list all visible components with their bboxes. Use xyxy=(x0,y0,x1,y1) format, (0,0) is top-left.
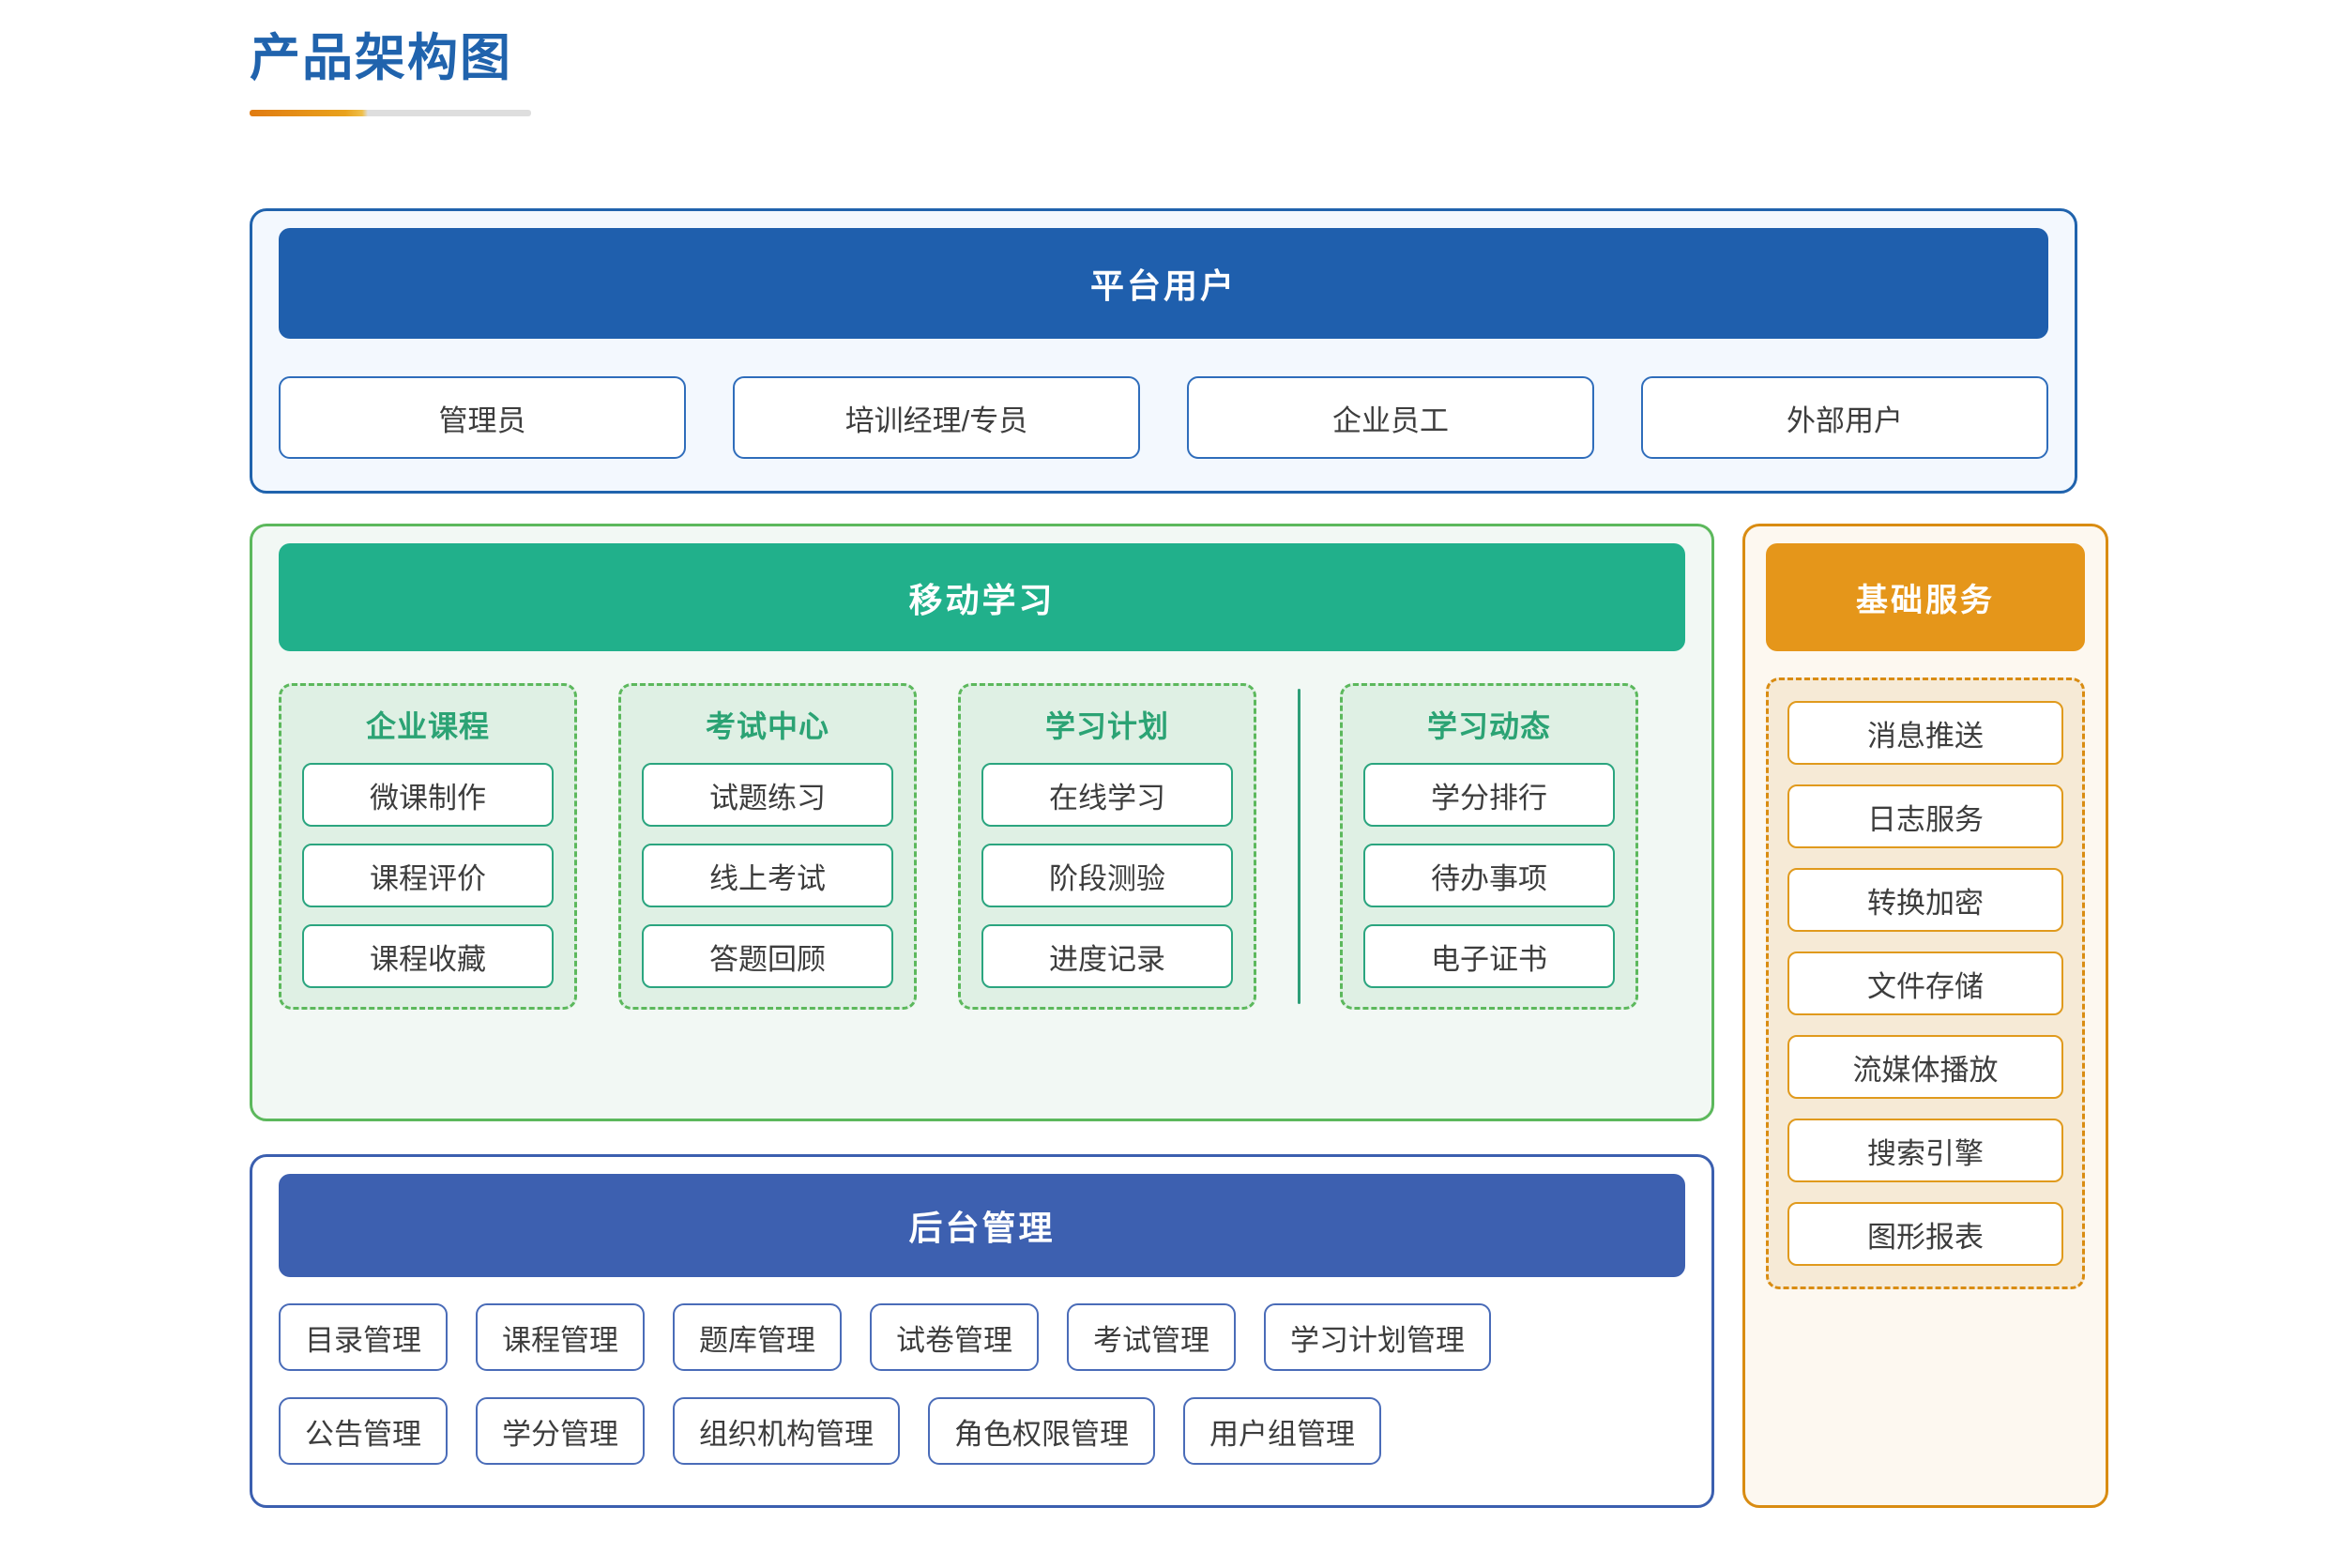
group-title: 考试中心 xyxy=(642,703,893,746)
user-type-box[interactable]: 管理员 xyxy=(279,376,686,459)
group-title: 学习计划 xyxy=(981,703,1233,746)
title-underline-rule xyxy=(250,110,531,116)
architecture-diagram: 产品架构图 平台用户 管理员 培训经理/专员 企业员工 外部用户 移动学习 企业… xyxy=(0,0,2327,1568)
basic-services-list: 消息推送 日志服务 转换加密 文件存储 流媒体播放 搜索引擎 图形报表 xyxy=(1766,677,2085,1289)
group-divider xyxy=(1298,689,1300,1004)
service-item[interactable]: 搜索引擎 xyxy=(1787,1119,2063,1182)
platform-users-panel: 平台用户 管理员 培训经理/专员 企业员工 外部用户 xyxy=(250,208,2077,494)
group-title: 学习动态 xyxy=(1363,703,1615,746)
module-group-study-plan: 学习计划 在线学习 阶段测验 进度记录 xyxy=(958,683,1256,1010)
backend-item[interactable]: 用户组管理 xyxy=(1183,1397,1381,1465)
page-title: 产品架构图 xyxy=(250,28,531,89)
mobile-learning-header: 移动学习 xyxy=(279,543,1685,651)
module-item[interactable]: 学分排行 xyxy=(1363,763,1615,827)
module-item[interactable]: 阶段测验 xyxy=(981,844,1233,907)
service-item[interactable]: 图形报表 xyxy=(1787,1202,2063,1266)
mobile-learning-groups: 企业课程 微课制作 课程评价 课程收藏 考试中心 试题练习 线上考试 答题回顾 … xyxy=(279,683,1685,1010)
module-item[interactable]: 课程收藏 xyxy=(302,924,554,988)
backend-item[interactable]: 题库管理 xyxy=(673,1303,842,1371)
service-item[interactable]: 转换加密 xyxy=(1787,868,2063,932)
title-block: 产品架构图 xyxy=(250,28,531,116)
group-title: 企业课程 xyxy=(302,703,554,746)
backend-item[interactable]: 组织机构管理 xyxy=(673,1397,900,1465)
backend-management-panel: 后台管理 目录管理 课程管理 题库管理 试卷管理 考试管理 学习计划管理 公告管… xyxy=(250,1154,1714,1508)
module-group-study-activity: 学习动态 学分排行 待办事项 电子证书 xyxy=(1340,683,1638,1010)
backend-item[interactable]: 角色权限管理 xyxy=(928,1397,1155,1465)
service-item[interactable]: 文件存储 xyxy=(1787,951,2063,1015)
backend-row-2: 公告管理 学分管理 组织机构管理 角色权限管理 用户组管理 xyxy=(279,1397,1685,1465)
module-item[interactable]: 待办事项 xyxy=(1363,844,1615,907)
user-type-box[interactable]: 企业员工 xyxy=(1187,376,1594,459)
backend-management-header: 后台管理 xyxy=(279,1174,1685,1277)
backend-item[interactable]: 试卷管理 xyxy=(870,1303,1039,1371)
module-item[interactable]: 进度记录 xyxy=(981,924,1233,988)
module-item[interactable]: 线上考试 xyxy=(642,844,893,907)
module-item[interactable]: 课程评价 xyxy=(302,844,554,907)
backend-item[interactable]: 课程管理 xyxy=(476,1303,645,1371)
backend-item[interactable]: 目录管理 xyxy=(279,1303,448,1371)
module-group-exam-center: 考试中心 试题练习 线上考试 答题回顾 xyxy=(618,683,917,1010)
mobile-learning-panel: 移动学习 企业课程 微课制作 课程评价 课程收藏 考试中心 试题练习 线上考试 … xyxy=(250,524,1714,1121)
basic-services-panel: 基础服务 消息推送 日志服务 转换加密 文件存储 流媒体播放 搜索引擎 图形报表 xyxy=(1742,524,2108,1508)
service-item[interactable]: 日志服务 xyxy=(1787,784,2063,848)
platform-users-row: 管理员 培训经理/专员 企业员工 外部用户 xyxy=(279,376,2048,459)
module-item[interactable]: 试题练习 xyxy=(642,763,893,827)
module-item[interactable]: 电子证书 xyxy=(1363,924,1615,988)
backend-item[interactable]: 公告管理 xyxy=(279,1397,448,1465)
basic-services-header: 基础服务 xyxy=(1766,543,2085,651)
backend-item[interactable]: 学分管理 xyxy=(476,1397,645,1465)
module-item[interactable]: 在线学习 xyxy=(981,763,1233,827)
backend-item[interactable]: 考试管理 xyxy=(1067,1303,1236,1371)
platform-users-header: 平台用户 xyxy=(279,228,2048,339)
user-type-box[interactable]: 外部用户 xyxy=(1641,376,2048,459)
user-type-box[interactable]: 培训经理/专员 xyxy=(733,376,1140,459)
service-item[interactable]: 流媒体播放 xyxy=(1787,1035,2063,1099)
module-item[interactable]: 答题回顾 xyxy=(642,924,893,988)
module-group-enterprise-courses: 企业课程 微课制作 课程评价 课程收藏 xyxy=(279,683,577,1010)
backend-item[interactable]: 学习计划管理 xyxy=(1264,1303,1491,1371)
service-item[interactable]: 消息推送 xyxy=(1787,701,2063,765)
backend-row-1: 目录管理 课程管理 题库管理 试卷管理 考试管理 学习计划管理 xyxy=(279,1303,1685,1371)
module-item[interactable]: 微课制作 xyxy=(302,763,554,827)
